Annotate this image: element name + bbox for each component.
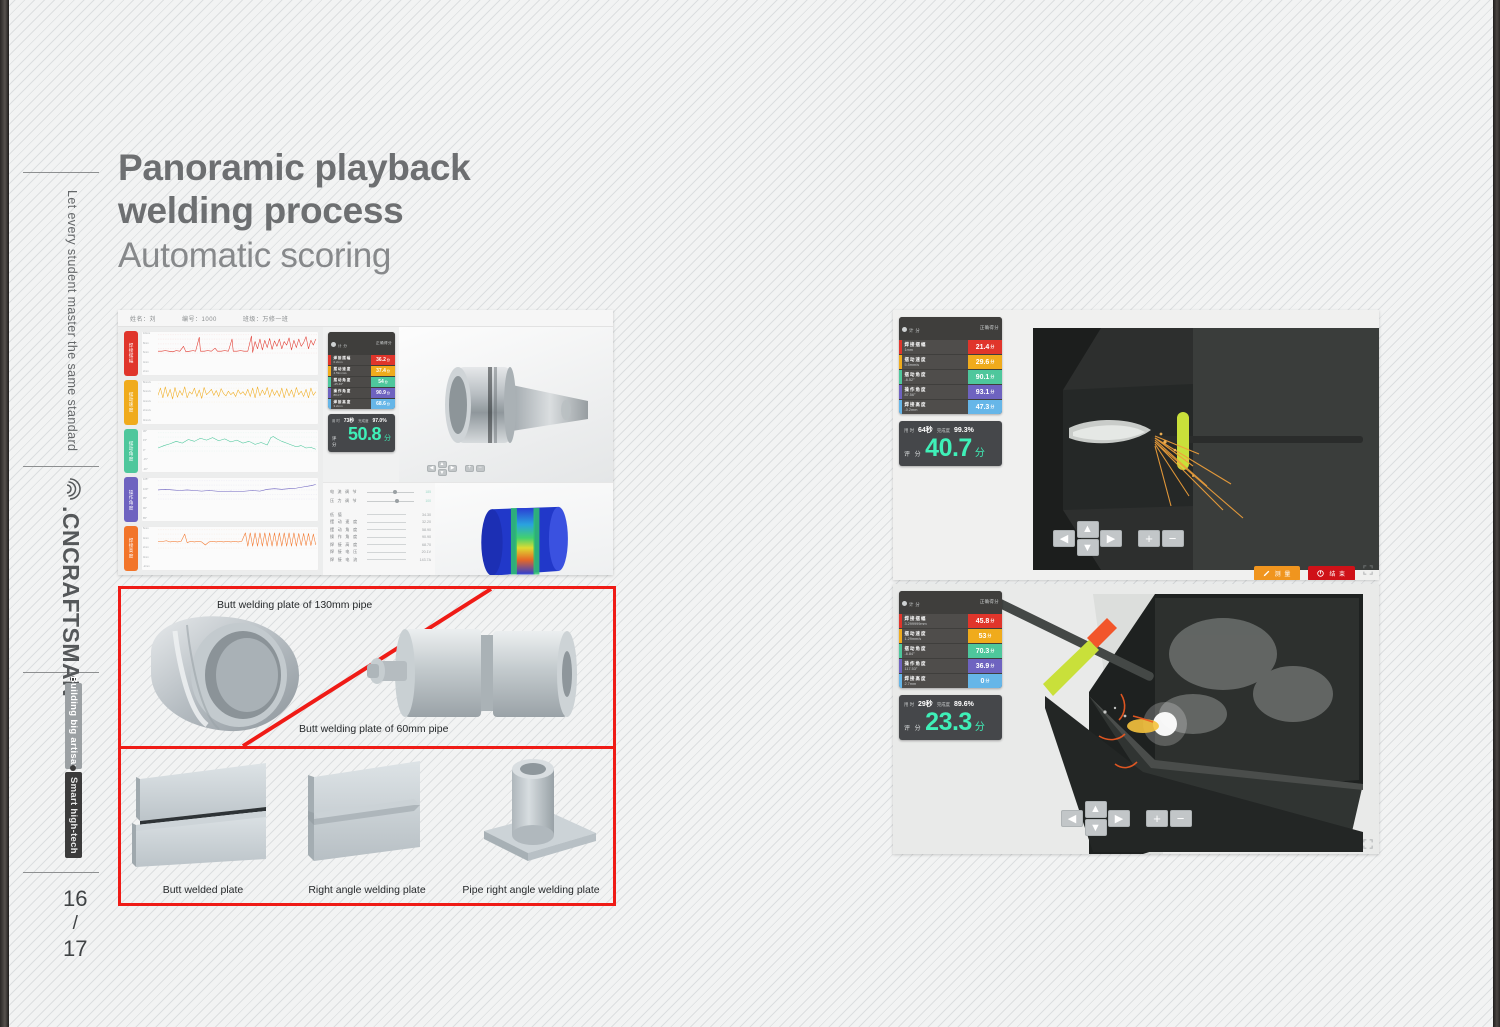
badge-dot-middle	[70, 765, 76, 771]
metrics-score-column-w1: 正确得分	[980, 325, 999, 331]
pan-up-button-2[interactable]: ▲	[1085, 801, 1107, 818]
brand-name: .CNCRAFTSMAN	[57, 506, 84, 697]
score-label-2: 评 分	[904, 723, 922, 732]
student-class: 班级：万修一班	[243, 314, 289, 323]
weld-controls-2: ◀ ▲ ▼ ▶ + −	[1061, 801, 1192, 837]
param-row: 低 值34.30	[330, 511, 431, 519]
metrics-card: 计 分正确得分焊接摆幅0.2mm36.2分摆动速度4.59mm/s37.4分摆动…	[328, 332, 395, 409]
zoom-in-button[interactable]: +	[465, 465, 474, 472]
metric-sub-value: -6.84°	[905, 652, 969, 656]
measure-button[interactable]: 测 量	[1254, 566, 1301, 580]
page-left-edge	[0, 0, 9, 1027]
score-label-1: 评 分	[904, 449, 922, 458]
chart-plot-2[interactable]: 8mm/s6mm/s4mm/s2mm/s0mm/s	[141, 380, 319, 425]
chart-tag-2: 摆动速度	[124, 380, 138, 425]
completion-value-1: 99.3%	[954, 427, 974, 434]
metric-sub-value: 1mm	[905, 348, 969, 352]
fullscreen-icon-2[interactable]	[1363, 839, 1373, 849]
metric-sub-value: 1.29mm/s	[905, 637, 969, 641]
pencil-icon	[1263, 570, 1270, 577]
metric-score: 70.3分	[968, 644, 1002, 658]
pipe-3d-viewport[interactable]: ◀ ▲ ▼ ▶ + −	[399, 327, 613, 482]
page-number-slash: /	[63, 911, 87, 936]
chart-plot-3[interactable]: 30°15°0°-15°-30°	[141, 429, 319, 474]
page-number-current: 16	[63, 886, 87, 911]
metric-sub-value: 87.56°	[905, 393, 969, 397]
page-right-edge	[1493, 0, 1500, 1027]
dashboard-header: 姓名：刘 编号：1000 班级：万修一班	[118, 310, 613, 327]
figure-cell-pipe-right-angle: Pipe right angle welding plate	[449, 749, 613, 900]
metrics-card-2: 计 分正确得分焊接摆幅3.299999mm45.8分摆动速度1.29mm/s53…	[899, 591, 1002, 688]
metric-row: 操作角度117.53°36.9分	[899, 658, 1002, 673]
param-label: 焊 接 电 流	[330, 557, 364, 563]
chart-series-3	[158, 431, 317, 453]
weld-stage-2[interactable]: 计 分正确得分焊接摆幅3.299999mm45.8分摆动速度1.29mm/s53…	[893, 584, 1379, 854]
weld-action-bar-1: 测 量 结 束	[1254, 566, 1355, 580]
metric-row: 焊接高度2.7mm0分	[899, 673, 1002, 688]
chart-row-3: 摆动角度30°15°0°-15°-30°	[124, 429, 319, 474]
metric-info: 焊接高度2.7mm	[902, 674, 969, 688]
metric-info: 摆动角度-6.84°	[902, 644, 969, 658]
param-value: 20.1V	[409, 550, 431, 554]
chart-row-1: 焊接摆幅10mm8mm6mm4mm2mm	[124, 331, 319, 376]
completion-value-2: 89.6%	[954, 701, 974, 708]
metric-info: 摆动速度5.5mm/s	[902, 355, 969, 369]
param-value: 34.30	[409, 513, 431, 517]
metric-row: 摆动速度1.29mm/s53分	[899, 628, 1002, 643]
param-label: 摆 动 速 度	[330, 519, 364, 525]
parameter-column: 电 流 调 节185压 力 调 节100 低 值34.30摆 动 速 度32.2…	[323, 483, 435, 575]
chart-series-5	[158, 528, 317, 550]
metric-score: 45.8分	[968, 614, 1002, 628]
metric-score: 90.1分	[968, 370, 1002, 384]
metric-sub-value: 0.2mm	[334, 361, 372, 364]
param-label: 焊 接 电 压	[330, 549, 364, 555]
param-row: 焊 接 电 压20.1V	[330, 549, 431, 557]
metric-row: 摆动速度5.5mm/s29.6分	[899, 354, 1002, 369]
metric-score: 68.6分	[371, 399, 395, 409]
metric-info: 焊接摆幅0.2mm	[331, 355, 372, 365]
metric-info: 摆动角度-25.46°	[331, 377, 372, 387]
param-label: 摆 动 角 度	[330, 527, 364, 533]
sidebar-divider-2	[23, 466, 99, 467]
metric-row: 操作角度88.07°90.9分	[328, 387, 395, 398]
slider-label: 电 流 调 节	[330, 489, 364, 495]
zoom-out-button-2[interactable]: −	[1170, 810, 1192, 827]
slider-value: 185	[417, 490, 431, 494]
metric-sub-value: -6.52°	[905, 378, 969, 382]
metric-sub-value: 4.59mm/s	[334, 372, 372, 375]
metric-sub-value: 5.5mm/s	[905, 363, 969, 367]
metric-row: 操作角度87.56°93.1分	[899, 384, 1002, 399]
pan-down-button[interactable]: ▼	[438, 469, 447, 476]
chart-plot-4[interactable]: 105°100°95°90°85°	[141, 477, 319, 522]
chart-row-5: 焊接高度6mm4mm2mm0mm-2mm	[124, 526, 319, 571]
pipe-60mm-model	[359, 609, 589, 739]
score-unit-1: 分	[975, 444, 985, 459]
pipe-3d-model	[399, 327, 613, 482]
figure-caption-pipe-right-angle: Pipe right angle welding plate	[462, 884, 599, 896]
metrics-title-w2: 计 分	[909, 602, 920, 607]
metric-info: 操作角度87.56°	[902, 385, 969, 399]
chart-stack: 焊接摆幅10mm8mm6mm4mm2mm摆动速度8mm/s6mm/s4mm/s2…	[118, 327, 323, 575]
score-value-1: 40.7	[925, 436, 972, 461]
score-card-2: 用 时 29秒 完成度 89.6% 评 分 23.3 分	[899, 695, 1002, 740]
pan-up-button[interactable]: ▲	[438, 461, 447, 468]
metric-score: 37.4分	[371, 366, 395, 376]
param-track	[367, 514, 406, 515]
power-icon	[1317, 570, 1324, 577]
metric-sub-value: 2.7mm	[905, 682, 969, 686]
slider-track[interactable]	[367, 492, 414, 493]
param-track	[367, 529, 406, 530]
pipe-right-angle-plate-model	[456, 755, 606, 873]
metrics-header-w1: 计 分正确得分	[899, 317, 1002, 339]
metric-row: 焊接摆幅0.2mm36.2分	[328, 354, 395, 365]
metric-info: 操作角度88.07°	[331, 388, 372, 398]
score-card-1: 用 时 64秒 完成度 99.3% 评 分 40.7 分	[899, 421, 1002, 466]
chart-row-2: 摆动速度8mm/s6mm/s4mm/s2mm/s0mm/s	[124, 380, 319, 425]
metric-info: 操作角度117.53°	[902, 659, 969, 673]
sidebar-divider-1	[23, 172, 99, 173]
param-value: 58.90	[409, 528, 431, 532]
metric-info: 焊接摆幅3.299999mm	[902, 614, 969, 628]
slider-knob[interactable]	[395, 499, 399, 503]
zoom-in-button-2[interactable]: +	[1146, 810, 1168, 827]
pan-down-button-1[interactable]: ▼	[1077, 539, 1099, 556]
figure-box: Butt welding plate of 130mm pipe Butt we…	[118, 586, 616, 906]
chart-series-4	[158, 479, 317, 501]
param-label: 焊 接 高 度	[330, 542, 364, 548]
chart-yaxis-3: 30°15°0°-15°-30°	[143, 431, 159, 472]
hud-panel-1: 计 分正确得分焊接摆幅1mm21.4分摆动速度5.5mm/s29.6分摆动角度-…	[899, 317, 1002, 466]
metric-info: 焊接高度-0.2mm	[902, 400, 969, 414]
score-value: 50.8	[348, 425, 381, 443]
pan-left-button-1[interactable]: ◀	[1053, 530, 1075, 547]
end-button[interactable]: 结 束	[1308, 566, 1355, 580]
score-unit-2: 分	[975, 718, 985, 733]
metric-sub-value: -0.2mm	[905, 408, 969, 412]
pan-left-button[interactable]: ◀	[427, 465, 436, 472]
weld-simulation-view-1: 计 分正确得分焊接摆幅1mm21.4分摆动速度5.5mm/s29.6分摆动角度-…	[893, 310, 1379, 580]
metric-score: 21.4分	[968, 340, 1002, 354]
param-row: 焊 接 高 度68.70	[330, 541, 431, 549]
figure-caption-130mm: Butt welding plate of 130mm pipe	[217, 599, 372, 611]
metric-score: 36.9分	[968, 659, 1002, 673]
chart-tag-3: 摆动角度	[124, 429, 138, 474]
figure-caption-60mm: Butt welding plate of 60mm pipe	[299, 723, 448, 735]
time-value: 73秒	[344, 417, 355, 424]
title-line-2: welding process	[118, 189, 738, 232]
metrics-score-column-dash: 正确得分	[376, 341, 392, 346]
dashboard-score-column: 计 分正确得分焊接摆幅0.2mm36.2分摆动速度4.59mm/s37.4分摆动…	[323, 327, 399, 482]
pan-right-button-1[interactable]: ▶	[1100, 530, 1122, 547]
zoom-out-button[interactable]: −	[476, 465, 485, 472]
param-value: 90.90	[409, 535, 431, 539]
butt-welded-plate-model	[128, 755, 278, 870]
chart-series-1	[158, 333, 317, 355]
page-number-total: 17	[63, 936, 87, 961]
param-row: 摆 动 角 度58.90	[330, 526, 431, 534]
metrics-header-w2: 计 分正确得分	[899, 591, 1002, 613]
end-button-label: 结 束	[1329, 569, 1346, 578]
chart-plot-5[interactable]: 6mm4mm2mm0mm-2mm	[141, 526, 319, 571]
param-track	[367, 537, 406, 538]
chart-yaxis-4: 105°100°95°90°85°	[143, 479, 159, 520]
viewport-controls: ◀ ▲ ▼ ▶ + −	[427, 461, 485, 477]
metrics-title-w1: 计 分	[909, 328, 920, 333]
param-value: 68.70	[409, 543, 431, 547]
figure-caption-butt-plate: Butt welded plate	[163, 884, 244, 896]
metric-score: 53分	[968, 629, 1002, 643]
chart-yaxis-5: 6mm4mm2mm0mm-2mm	[143, 528, 159, 569]
metrics-score-column-w2: 正确得分	[980, 599, 999, 605]
hud-panel-2: 计 分正确得分焊接摆幅3.299999mm45.8分摆动速度1.29mm/s53…	[899, 591, 1002, 740]
figure-cell-butt-plate: Butt welded plate	[121, 749, 285, 900]
time-label: 用 时	[332, 418, 340, 423]
param-row: 摆 动 速 度32.20	[330, 519, 431, 527]
param-label: 低 值	[330, 512, 364, 518]
metric-row: 焊接摆幅1mm21.4分	[899, 339, 1002, 354]
param-row: 操 作 角 度90.90	[330, 534, 431, 542]
gear-icon	[902, 601, 907, 606]
sidebar-divider-4	[23, 872, 99, 873]
page-number: 16 / 17	[63, 886, 87, 961]
metric-sub-value: -25.46°	[334, 383, 372, 386]
metric-info: 摆动速度1.29mm/s	[902, 629, 969, 643]
slider-list: 电 流 调 节185压 力 调 节100	[330, 489, 431, 504]
score-unit: 分	[384, 433, 391, 443]
time-label-1: 用 时	[904, 428, 914, 434]
dashboard-screenshot: 姓名：刘 编号：1000 班级：万修一班 焊接摆幅10mm8mm6mm4mm2m…	[118, 310, 613, 575]
metric-row: 焊接高度3.2mm68.6分	[328, 398, 395, 409]
metric-score: 93.1分	[968, 385, 1002, 399]
gear-icon	[331, 342, 336, 347]
slider-label: 压 力 调 节	[330, 498, 364, 504]
chart-tag-4: 操作角度	[124, 477, 138, 522]
zoom-out-button-1[interactable]: −	[1162, 530, 1184, 547]
metric-row: 摆动角度-25.46°54分	[328, 376, 395, 387]
pan-left-button-2[interactable]: ◀	[1061, 810, 1083, 827]
page-title: Panoramic playback welding process Autom…	[118, 146, 738, 278]
score-value-2: 23.3	[925, 710, 972, 735]
sidebar-tagline: Let every student master the same standa…	[65, 190, 79, 451]
param-row: 焊 接 电 流143.7A	[330, 556, 431, 564]
craftsman-logo-icon	[57, 476, 83, 502]
metric-row: 焊接高度-0.2mm47.3分	[899, 399, 1002, 414]
student-name: 姓名：刘	[130, 314, 156, 323]
chart-series-2	[158, 382, 317, 404]
figure-row-top: Butt welding plate of 130mm pipe Butt we…	[121, 589, 613, 749]
metric-score: 47.3分	[968, 400, 1002, 414]
right-angle-plate-model	[292, 755, 442, 870]
metric-score: 54分	[371, 377, 395, 387]
figure-row-bottom: Butt welded plate Right angle welding pl…	[121, 749, 613, 900]
chart-plot-1[interactable]: 10mm8mm6mm4mm2mm	[141, 331, 319, 376]
metrics-card-1: 计 分正确得分焊接摆幅1mm21.4分摆动速度5.5mm/s29.6分摆动角度-…	[899, 317, 1002, 414]
param-track	[367, 559, 406, 560]
metric-score: 36.2分	[371, 355, 395, 365]
weld-heatmap-model	[435, 483, 613, 575]
metric-row: 焊接摆幅3.299999mm45.8分	[899, 613, 1002, 628]
figure-cell-right-angle: Right angle welding plate	[285, 749, 449, 900]
metrics-header-dash: 计 分正确得分	[328, 332, 395, 354]
time-label-2: 用 时	[904, 702, 914, 708]
weld-simulation-view-2: 计 分正确得分焊接摆幅3.299999mm45.8分摆动速度1.29mm/s53…	[893, 584, 1379, 854]
slider-row[interactable]: 电 流 调 节185	[330, 489, 431, 495]
gear-icon	[902, 327, 907, 332]
slider-knob[interactable]	[393, 490, 397, 494]
param-label: 操 作 角 度	[330, 534, 364, 540]
param-track	[367, 552, 406, 553]
metric-row: 摆动角度-6.84°70.3分	[899, 643, 1002, 658]
metric-sub-value: 3.2mm	[334, 405, 372, 408]
param-value: 32.20	[409, 520, 431, 524]
completion-label: 完成度	[358, 418, 368, 423]
score-label: 评 分	[332, 436, 345, 448]
measure-button-label: 测 量	[1275, 569, 1292, 578]
pan-down-button-2[interactable]: ▼	[1085, 819, 1107, 836]
student-id: 编号：1000	[182, 314, 217, 323]
metric-row: 摆动速度4.59mm/s37.4分	[328, 365, 395, 376]
parameter-table: 低 值34.30摆 动 速 度32.20摆 动 角 度58.90操 作 角 度9…	[330, 511, 431, 564]
metric-info: 焊接摆幅1mm	[902, 340, 969, 354]
metric-row: 摆动角度-6.52°90.1分	[899, 369, 1002, 384]
metric-sub-value: 3.299999mm	[905, 622, 969, 626]
title-line-1: Panoramic playback	[118, 146, 738, 189]
weld-controls-1: ◀ ▲ ▼ ▶ + −	[1053, 521, 1184, 557]
pan-up-button-1[interactable]: ▲	[1077, 521, 1099, 538]
pipe-130mm-model	[131, 611, 321, 741]
zoom-in-button-1[interactable]: +	[1138, 530, 1160, 547]
param-value: 143.7A	[409, 558, 431, 562]
chart-tag-5: 焊接高度	[124, 526, 138, 571]
pan-right-button-2[interactable]: ▶	[1108, 810, 1130, 827]
metric-info: 摆动角度-6.52°	[902, 370, 969, 384]
metric-score: 0分	[968, 674, 1002, 688]
metric-info: 摆动速度4.59mm/s	[331, 366, 372, 376]
param-track	[367, 522, 406, 523]
metrics-title-dash: 计 分	[338, 344, 347, 348]
score-card: 用 时 73秒 完成度 97.0% 评 分 50.8 分	[328, 414, 395, 452]
pan-right-button[interactable]: ▶	[448, 465, 457, 472]
slider-row[interactable]: 压 力 调 节100	[330, 498, 431, 504]
metric-sub-value: 117.53°	[905, 667, 969, 671]
weld-stage-1[interactable]: 计 分正确得分焊接摆幅1mm21.4分摆动速度5.5mm/s29.6分摆动角度-…	[893, 310, 1379, 580]
chart-yaxis-1: 10mm8mm6mm4mm2mm	[143, 333, 159, 374]
subtitle: Automatic scoring	[118, 234, 738, 278]
badge-building-big-artisans: Building big artisans	[65, 683, 82, 769]
figure-caption-right-angle: Right angle welding plate	[308, 884, 425, 896]
heatmap-viewport[interactable]	[435, 483, 613, 575]
slider-value: 100	[417, 499, 431, 503]
badge-smart-high-tech: Smart high-tech	[65, 772, 82, 858]
metric-info: 焊接高度3.2mm	[331, 399, 372, 409]
metric-score: 29.6分	[968, 355, 1002, 369]
metric-score: 90.9分	[371, 388, 395, 398]
param-track	[367, 544, 406, 545]
sidebar: Let every student master the same standa…	[9, 0, 114, 1027]
metric-sub-value: 88.07°	[334, 394, 372, 397]
chart-row-4: 操作角度105°100°95°90°85°	[124, 477, 319, 522]
fullscreen-icon-1[interactable]	[1363, 565, 1373, 575]
chart-tag-1: 焊接摆幅	[124, 331, 138, 376]
slider-track[interactable]	[367, 501, 414, 502]
chart-yaxis-2: 8mm/s6mm/s4mm/s2mm/s0mm/s	[143, 382, 159, 423]
